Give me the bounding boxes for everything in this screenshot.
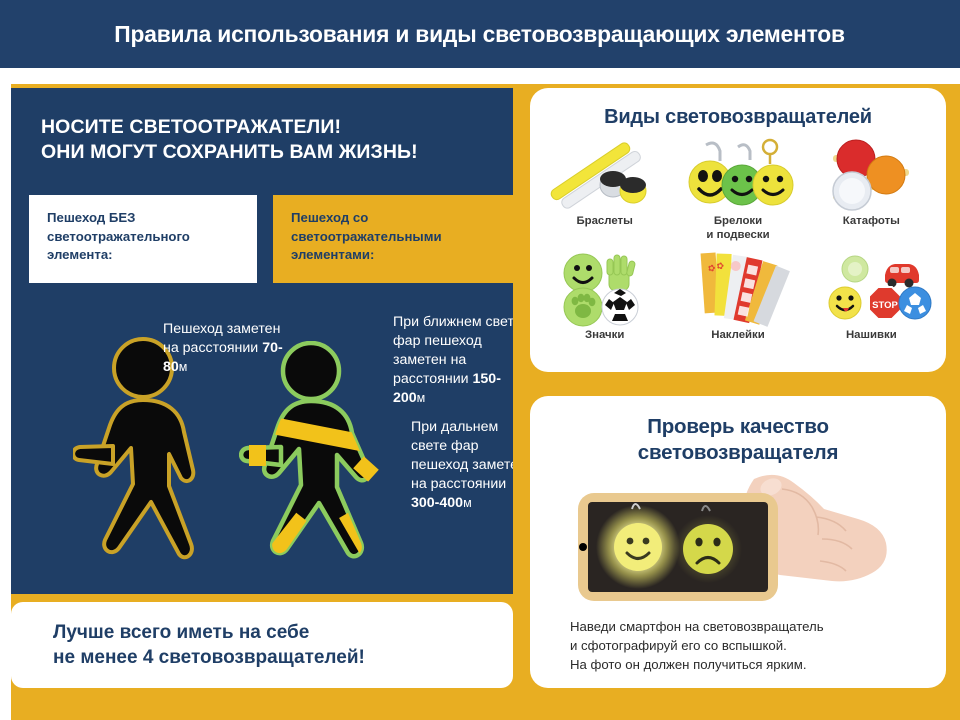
panel-heading-line2: ОНИ МОГУТ СОХРАНИТЬ ВАМ ЖИЗНЬ! [41, 140, 418, 165]
quality-check-text-line1: Наведи смартфон на световозвращатель [570, 618, 946, 637]
distance-plain-label: Пешеход заметен на расстоянии 70-80м [163, 320, 283, 377]
bracelet-icon [541, 137, 669, 213]
bottom-advice-line1: Лучше всего иметь на себе [53, 620, 365, 645]
distance-plain-unit: м [179, 360, 188, 374]
smartphone-photo [530, 469, 946, 614]
quality-check-title: Проверь качество световозвращателя [530, 414, 946, 465]
reflector-type-patches-label: Нашивки [846, 329, 897, 343]
distance-high-beam-text: При дальнем свете фар пешеход заметен на… [411, 419, 513, 492]
badge-icon [541, 251, 669, 327]
callout-without-reflector: Пешеход БЕЗ светоотражательного элемента… [29, 195, 257, 283]
reflector-type-stickers-label: Наклейки [711, 329, 765, 343]
wear-reflectors-panel: НОСИТЕ СВЕТООТРАЖАТЕЛИ! ОНИ МОГУТ СОХРАН… [11, 88, 513, 594]
reflector-type-stickers: ✿ ✿ Наклейки [671, 251, 804, 361]
reflector-type-keychains-label: Брелоки и подвески [706, 215, 769, 242]
reflector-type-badges: Значки [538, 251, 671, 361]
callout-with-reflector: Пешеход со светоотражательными элементам… [273, 195, 513, 283]
page-title: Правила использования и виды световозвра… [115, 21, 846, 48]
distance-low-beam-unit: м [417, 391, 426, 405]
reflector-type-catafotes: Катафоты [805, 137, 938, 251]
panel-heading-line1: НОСИТЕ СВЕТООТРАЖАТЕЛИ! [41, 115, 418, 140]
infographic-page: Правила использования и виды световозвра… [0, 0, 960, 720]
quality-check-text-line3: На фото он должен получиться ярким. [570, 656, 946, 675]
left-white-gutter [0, 68, 11, 720]
keychain-icon [674, 137, 802, 213]
distance-high-beam-label: При дальнем свете фар пешеход заметен на… [411, 418, 513, 512]
panel-heading: НОСИТЕ СВЕТООТРАЖАТЕЛИ! ОНИ МОГУТ СОХРАН… [41, 115, 418, 165]
reflector-types-card: Виды световозвращателей [530, 88, 946, 372]
callout-without-reflector-label: Пешеход БЕЗ светоотражательного элемента… [47, 209, 241, 265]
distance-high-beam-unit: м [463, 496, 472, 510]
reflector-type-patches: STOP Нашивки [805, 251, 938, 361]
quality-check-title-line1: Проверь качество [530, 414, 946, 440]
bottom-advice-line2: не менее 4 световозвращателей! [53, 645, 365, 670]
reflector-type-keychains-label-line1: Брелоки [706, 215, 769, 229]
callout-with-reflector-label: Пешеход со светоотражательными элементам… [291, 209, 497, 265]
quality-check-text-line2: и сфотографируй его со вспышкой. [570, 637, 946, 656]
reflector-type-keychains: Брелоки и подвески [671, 137, 804, 251]
distance-high-beam-value: 300-400 [411, 495, 463, 511]
quality-check-instructions: Наведи смартфон на световозвращатель и с… [570, 618, 946, 674]
sticker-icon: ✿ ✿ [674, 251, 802, 327]
bottom-advice-card: Лучше всего иметь на себе не менее 4 све… [11, 602, 513, 688]
reflector-types-title: Виды световозвращателей [530, 106, 946, 129]
reflector-disc-icon [807, 137, 935, 213]
svg-text:STOP: STOP [872, 300, 898, 311]
distance-low-beam-label: При ближнем свете фар пешеход заметен на… [393, 313, 513, 407]
quality-check-card: Проверь качество световозвращателя [530, 396, 946, 688]
reflector-type-bracelets: Браслеты [538, 137, 671, 251]
patch-icon: STOP [807, 251, 935, 327]
page-header: Правила использования и виды световозвра… [0, 0, 960, 68]
reflector-type-badges-label: Значки [585, 329, 624, 343]
quality-check-title-line2: световозвращателя [530, 440, 946, 466]
reflector-types-grid: Браслеты [530, 137, 946, 361]
bottom-advice-text: Лучше всего иметь на себе не менее 4 све… [11, 620, 365, 670]
reflector-type-bracelets-label: Браслеты [576, 215, 632, 229]
reflector-type-keychains-label-line2: и подвески [706, 229, 769, 243]
top-white-gutter [0, 68, 960, 84]
reflector-type-catafotes-label: Катафоты [843, 215, 900, 229]
